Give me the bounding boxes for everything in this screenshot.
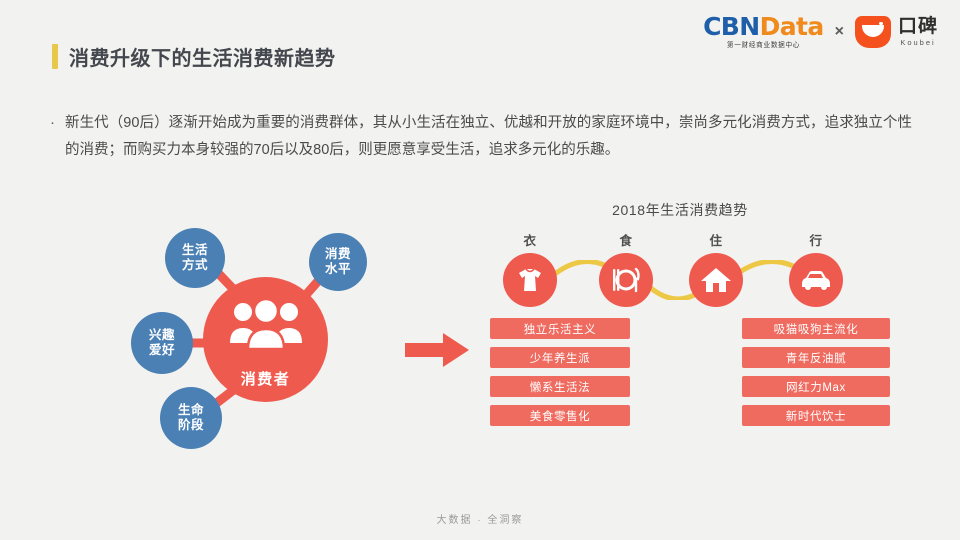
trend-category-clothing-circle	[503, 253, 557, 307]
x-separator-icon: ×	[835, 23, 844, 41]
trend-category-food-label: 食	[596, 230, 656, 249]
trend-tag[interactable]: 吸猫吸狗主流化	[742, 318, 890, 339]
car-icon	[799, 268, 833, 292]
koubei-wordmark-en: Koubei	[900, 39, 935, 47]
brand-lockup: CBNData 第一财经商业数据中心 × 口碑 Koubei	[703, 14, 938, 49]
title-accent-bar	[52, 44, 58, 69]
koubei-logo: 口碑 Koubei	[855, 16, 938, 48]
hub-node-lifestyle-line1: 生活	[182, 243, 208, 258]
trend-category-housing-circle	[689, 253, 743, 307]
cbndata-wordmark-data: Data	[760, 12, 824, 41]
trend-category-clothing[interactable]: 衣	[500, 230, 560, 307]
trend-tag[interactable]: 少年养生派	[490, 347, 630, 368]
consumer-hub-diagram: 生活 方式 消费 水平 兴趣 爱好 生命 阶段 消费者	[118, 215, 408, 475]
trend-tag[interactable]: 新时代饮士	[742, 405, 890, 426]
hub-node-interests-line2: 爱好	[149, 343, 175, 358]
slide-canvas: CBNData 第一财经商业数据中心 × 口碑 Koubei 消费升级下的生活消…	[0, 0, 960, 540]
hub-node-life-stage[interactable]: 生命 阶段	[160, 387, 222, 449]
trend-tag[interactable]: 懒系生活法	[490, 376, 630, 397]
trend-category-transport-label: 行	[786, 230, 846, 249]
hub-node-consumption-level-line2: 水平	[325, 262, 351, 277]
page-title: 消费升级下的生活消费新趋势	[52, 42, 336, 71]
hub-node-consumption-level-line1: 消费	[325, 247, 351, 262]
trend-tag-column-left: 独立乐活主义 少年养生派 懒系生活法 美食零售化	[490, 318, 630, 426]
trend-category-transport-circle	[789, 253, 843, 307]
house-icon	[700, 265, 732, 295]
trend-category-housing[interactable]: 住	[686, 230, 746, 307]
trend-tag[interactable]: 美食零售化	[490, 405, 630, 426]
koubei-wordmark-cn: 口碑	[898, 17, 938, 36]
flow-arrow-icon	[403, 330, 473, 370]
hub-node-interests[interactable]: 兴趣 爱好	[131, 312, 193, 374]
people-group-icon	[227, 299, 305, 351]
dress-icon	[515, 265, 545, 295]
hub-node-lifestyle-line2: 方式	[182, 258, 208, 273]
trend-tag[interactable]: 网红力Max	[742, 376, 890, 397]
hub-node-interests-line1: 兴趣	[149, 328, 175, 343]
koubei-mouth-shape	[862, 25, 884, 37]
hub-node-consumption-level[interactable]: 消费 水平	[309, 233, 367, 291]
trend-category-housing-label: 住	[686, 230, 746, 249]
koubei-wordmark: 口碑 Koubei	[898, 17, 938, 47]
body-paragraph: 新生代（90后）逐渐开始成为重要的消费群体，其从小生活在独立、优越和开放的家庭环…	[65, 110, 912, 164]
trend-category-transport[interactable]: 行	[786, 230, 846, 307]
trend-tag-groups: 独立乐活主义 少年养生派 懒系生活法 美食零售化 吸猫吸狗主流化 青年反油腻 网…	[490, 318, 890, 426]
hub-center-label: 消费者	[241, 368, 291, 389]
hub-node-life-stage-line2: 阶段	[178, 418, 204, 433]
bullet-marker-icon: ·	[50, 110, 55, 164]
cbndata-wordmark-cbn: CBN	[703, 12, 760, 41]
footer-text: 大数据 · 全洞察	[0, 511, 960, 526]
cbndata-logo: CBNData 第一财经商业数据中心	[703, 14, 824, 49]
cbndata-tagline: 第一财经商业数据中心	[727, 42, 800, 49]
trend-tag[interactable]: 青年反油腻	[742, 347, 890, 368]
trend-tag-column-right: 吸猫吸狗主流化 青年反油腻 网红力Max 新时代饮士	[742, 318, 890, 426]
hub-center-consumer[interactable]: 消费者	[203, 277, 328, 402]
hub-node-lifestyle[interactable]: 生活 方式	[165, 228, 225, 288]
trend-title: 2018年生活消费趋势	[490, 200, 870, 220]
title-text: 消费升级下的生活消费新趋势	[69, 42, 336, 71]
plate-cutlery-icon	[610, 265, 642, 295]
trend-tag[interactable]: 独立乐活主义	[490, 318, 630, 339]
trend-category-clothing-label: 衣	[500, 230, 560, 249]
koubei-smile-icon	[855, 16, 891, 48]
cbndata-wordmark: CBNData	[703, 14, 824, 39]
hub-node-life-stage-line1: 生命	[178, 403, 204, 418]
trend-category-food[interactable]: 食	[596, 230, 656, 307]
trend-panel: 2018年生活消费趋势 衣 食	[490, 200, 890, 460]
body-bullet: · 新生代（90后）逐渐开始成为重要的消费群体，其从小生活在独立、优越和开放的家…	[50, 110, 912, 164]
trend-category-food-circle	[599, 253, 653, 307]
koubei-eye-shape	[879, 22, 883, 26]
